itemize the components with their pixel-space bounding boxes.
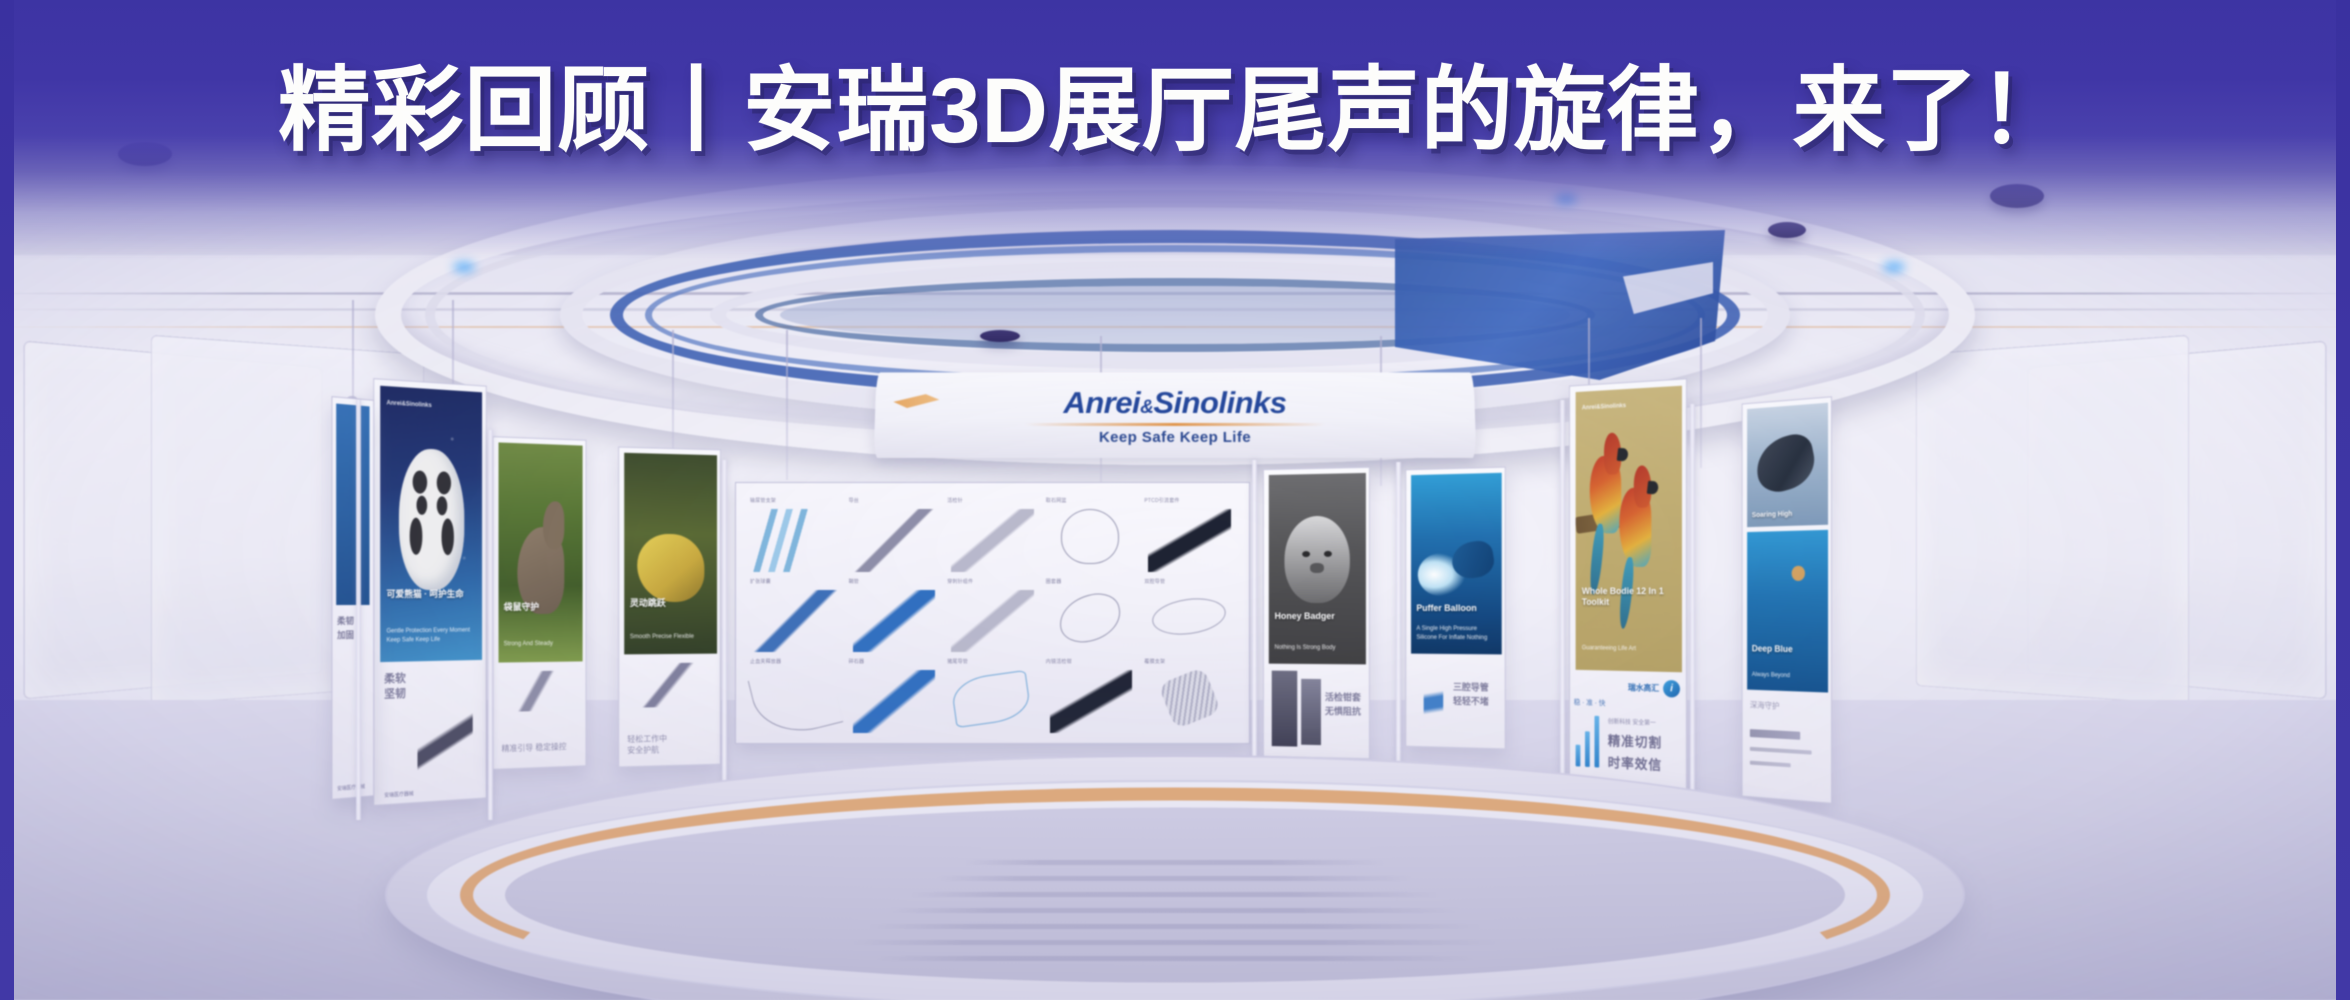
- floor-text-row-5: [869, 924, 1481, 929]
- product-cell-11[interactable]: 止血夹释放器: [748, 658, 843, 735]
- product-grid: 输尿管支架导丝活检针取石网篮PTCD引流套件扩张球囊鞘管穿刺针组件圈套器双腔导管…: [748, 497, 1237, 735]
- poster-subtitle-puffer: A Single High Pressure Silicone For Infl…: [1416, 625, 1496, 643]
- poster-title-kangaroo: 袋鼠守护: [504, 602, 578, 614]
- poster-board-eagle-sea[interactable]: Soaring High Deep Blue Always Beyond 深海守…: [1742, 396, 1832, 803]
- product-device-icon: [853, 670, 936, 733]
- product-cell-12[interactable]: 碎石器: [847, 658, 942, 735]
- exhibition-hall-screenshot: Anrei&Sinolinks Keep Safe Keep Life Anre…: [0, 0, 2350, 1000]
- logo-ampersand: &: [1140, 397, 1153, 418]
- brand-logo-banner: Anrei&Sinolinks Keep Safe Keep Life: [874, 372, 1477, 458]
- ring-glow-left: [453, 262, 475, 272]
- product-device-icon: [853, 509, 936, 572]
- product-cell-1[interactable]: 输尿管支架: [748, 497, 843, 574]
- product-label: 扩张球囊: [750, 578, 771, 585]
- logo-word-2: Sinolinks: [1153, 385, 1286, 420]
- caption-line-1: [1750, 729, 1800, 740]
- product-label: 活检针: [947, 497, 963, 504]
- ceiling-spot-light-5: [980, 330, 1020, 342]
- bee-eater-birds-poster[interactable]: Anrei&Sinolinks Whole Bodie 12 In 1 Tool…: [1576, 386, 1682, 673]
- brand-badge-icon: i: [1663, 680, 1680, 698]
- product-display-wall[interactable]: 输尿管支架导丝活检针取石网篮PTCD引流套件扩张球囊鞘管穿刺针组件圈套器双腔导管…: [735, 482, 1250, 744]
- badger-eye-right-icon: [1324, 551, 1332, 557]
- product-device-icon: [1055, 589, 1126, 647]
- product-label: 碎石器: [849, 658, 865, 665]
- poster-board-birds[interactable]: Anrei&Sinolinks Whole Bodie 12 In 1 Tool…: [1569, 378, 1687, 805]
- poster-caption-puffer: 三腔导管 轻轻不堵: [1453, 681, 1489, 709]
- badger-eye-left-icon: [1302, 551, 1310, 557]
- poster-caption-sea: 深海守护: [1750, 700, 1780, 714]
- poster-subtitle-panda: Gentle Protection Every Moment Keep Safe…: [387, 626, 477, 645]
- hanging-wire-8: [1700, 318, 1702, 468]
- ceiling-spot-light-3: [1990, 184, 2044, 208]
- poster-board-puffer[interactable]: Puffer Balloon A Single High Pressure Si…: [1405, 467, 1505, 750]
- floor-text-row-4: [889, 908, 1460, 913]
- panda-eye-left-icon: [416, 495, 427, 515]
- floor-text-row-3: [910, 892, 1440, 897]
- poster-title-frog: 灵动跳跃: [630, 598, 712, 610]
- product-label: 内镜活检钳: [1046, 658, 1072, 665]
- puffer-fish-poster[interactable]: Puffer Balloon A Single High Pressure Si…: [1411, 473, 1502, 655]
- product-device-icon: [951, 590, 1034, 653]
- eagle-icon: [1752, 430, 1819, 497]
- poster-title-birds: Whole Bodie 12 In 1 Toolkit: [1582, 586, 1676, 610]
- hanging-wire-3: [672, 330, 674, 460]
- logo-word-1: Anrei: [1063, 385, 1140, 420]
- page-title: 精彩回顾丨安瑞3D展厅尾声的旋律，来了！: [0, 36, 2350, 169]
- poster-subtitle-birds: Guaranteeing Life Art: [1582, 644, 1676, 655]
- poster-brand-panda: Anrei&Sinolinks: [387, 400, 432, 409]
- product-device-icon: [754, 590, 837, 653]
- product-label: 止血夹释放器: [750, 658, 781, 665]
- product-label: 导丝: [849, 497, 859, 504]
- left-stand-headline: 柔韧 加固: [337, 615, 354, 642]
- panda-ear-left-icon: [412, 471, 426, 494]
- sun-icon: [1792, 566, 1805, 581]
- product-cell-14[interactable]: 内镜活检钳: [1044, 658, 1139, 735]
- poster-subtitle-kangaroo: Strong And Steady: [504, 640, 578, 650]
- product-device-icon: [1148, 509, 1231, 572]
- stand-subnote: 创新科技 安全第一: [1608, 716, 1656, 727]
- poster-caption-panda: 柔软 坚韧: [384, 672, 406, 703]
- poster-board-frog[interactable]: 灵动跳跃 Smooth Precise Flexible 轻松工作中 安全护航: [618, 447, 721, 768]
- product-cell-2[interactable]: 导丝: [847, 497, 942, 574]
- badger-head-icon: [1284, 515, 1350, 603]
- left-stand-panel[interactable]: 柔韧 加固 安瑞医疗器械: [331, 396, 374, 800]
- device-illustration-puffer: [1424, 661, 1444, 745]
- poster-subtitle-sea: Always Beyond: [1752, 671, 1823, 682]
- product-device-icon: [745, 509, 846, 572]
- poster-title-sea: Deep Blue: [1752, 644, 1823, 657]
- panda-illustration: [399, 447, 464, 590]
- product-cell-6[interactable]: 扩张球囊: [748, 578, 843, 655]
- floor-text-row-2: [937, 876, 1413, 881]
- brand-tagline: Keep Safe Keep Life: [1099, 428, 1251, 445]
- product-device-icon: [1150, 594, 1228, 639]
- honey-badger-poster[interactable]: Honey Badger Nothing Is Strong Body: [1269, 473, 1366, 664]
- panda-arm-left-icon: [410, 518, 423, 555]
- poster-title-panda: 可爱熊猫 · 呵护生命: [387, 589, 477, 601]
- device-illustration-frog-board: [627, 663, 706, 708]
- bird-icon-1: [1590, 429, 1621, 592]
- poster-title-puffer: Puffer Balloon: [1416, 603, 1496, 615]
- brand-logo-text: Anrei&Sinolinks: [1063, 385, 1286, 421]
- poster-board-kangaroo[interactable]: 袋鼠守护 Strong And Steady 精准引导 稳定操控: [493, 436, 587, 770]
- product-cell-9[interactable]: 圈套器: [1044, 578, 1139, 655]
- product-label: 穿刺针组件: [947, 578, 973, 585]
- product-device-icon: [951, 509, 1034, 572]
- ring-glow-right: [1883, 262, 1905, 272]
- device-illustration-badger-1: [1272, 671, 1297, 747]
- product-cell-13[interactable]: 猪尾导管: [945, 658, 1040, 735]
- panda-poster[interactable]: Anrei&Sinolinks 可爱熊猫 · 呵护生命 Gentle Prote…: [380, 386, 482, 662]
- eagle-poster[interactable]: Soaring High: [1747, 403, 1828, 527]
- hanging-wire-4: [786, 330, 788, 480]
- product-cell-4[interactable]: 取石网篮: [1044, 497, 1139, 574]
- ocean-poster[interactable]: Deep Blue Always Beyond: [1747, 530, 1828, 693]
- badger-nose-icon: [1310, 563, 1323, 574]
- bird-beak-1: [1617, 448, 1629, 462]
- poster-board-panda[interactable]: Anrei&Sinolinks 可爱熊猫 · 呵护生命 Gentle Prote…: [373, 378, 486, 806]
- frog-illustration-icon: [637, 534, 704, 602]
- product-cell-5[interactable]: PTCD引流套件: [1142, 497, 1237, 574]
- poster-subtitle-badger: Nothing Is Strong Body: [1275, 643, 1360, 652]
- stand-chart-label: 稳 · 准 · 快: [1574, 697, 1606, 708]
- support-post-1: [356, 400, 361, 820]
- poster-brand-birds: Anrei&Sinolinks: [1582, 403, 1626, 411]
- stand-brand-row: 瑞水高汇 i: [1628, 679, 1680, 698]
- poster-board-badger[interactable]: Honey Badger Nothing Is Strong Body 活检钳套…: [1263, 467, 1370, 759]
- product-cell-15[interactable]: 覆膜支架: [1142, 658, 1237, 735]
- product-label: 猪尾导管: [947, 658, 968, 665]
- product-label: 取石网篮: [1046, 497, 1067, 504]
- product-cell-7[interactable]: 鞘管: [847, 578, 942, 655]
- bird-beak-2: [1647, 481, 1659, 495]
- product-cell-8[interactable]: 穿刺针组件: [945, 578, 1040, 655]
- product-label: 鞘管: [849, 578, 859, 585]
- stand-brand-text: 瑞水高汇: [1628, 682, 1659, 694]
- floor-text-row-7: [876, 956, 1474, 961]
- panda-ear-right-icon: [437, 472, 451, 495]
- left-stand-poster: [336, 404, 369, 606]
- poster-subtitle-frog: Smooth Precise Flexible: [630, 633, 712, 642]
- kangaroo-head-icon: [543, 501, 565, 549]
- product-device-icon: [853, 590, 936, 653]
- device-illustration-kangaroo-board: [502, 671, 571, 712]
- panda-arm-right-icon: [441, 518, 454, 555]
- product-device-icon: [1050, 670, 1133, 733]
- kangaroo-poster[interactable]: 袋鼠守护 Strong And Steady: [499, 442, 583, 662]
- floor-text-row-6: [849, 940, 1502, 945]
- product-device-icon: [748, 661, 843, 742]
- product-cell-10[interactable]: 双腔导管: [1142, 578, 1237, 655]
- panda-eye-right-icon: [437, 496, 448, 516]
- ceiling-spot-light-4: [1768, 222, 1806, 238]
- frog-poster[interactable]: 灵动跳跃 Smooth Precise Flexible: [624, 453, 717, 655]
- device-illustration-badger-2: [1301, 679, 1321, 745]
- product-label: 圈套器: [1046, 578, 1062, 585]
- floor-decorative-text: [835, 860, 1515, 972]
- poster-title-badger: Honey Badger: [1275, 610, 1360, 622]
- product-device-icon: [950, 670, 1032, 728]
- product-label: 覆膜支架: [1144, 658, 1165, 665]
- product-device-icon: [1061, 509, 1120, 564]
- ring-glow-top: [1555, 194, 1577, 204]
- product-label: PTCD引流套件: [1144, 497, 1179, 504]
- floor-text-row-1: [964, 860, 1386, 865]
- logo-underline: [1025, 422, 1325, 425]
- product-cell-3[interactable]: 活检针: [945, 497, 1040, 574]
- logo-swash-icon: [893, 394, 939, 408]
- poster-caption-badger: 活检钳套 无惧阻抗: [1325, 691, 1361, 719]
- product-device-icon: [1158, 666, 1221, 728]
- product-label: 双腔导管: [1144, 578, 1165, 585]
- product-label: 输尿管支架: [750, 497, 776, 504]
- poster-title-eagle: Soaring High: [1752, 508, 1823, 520]
